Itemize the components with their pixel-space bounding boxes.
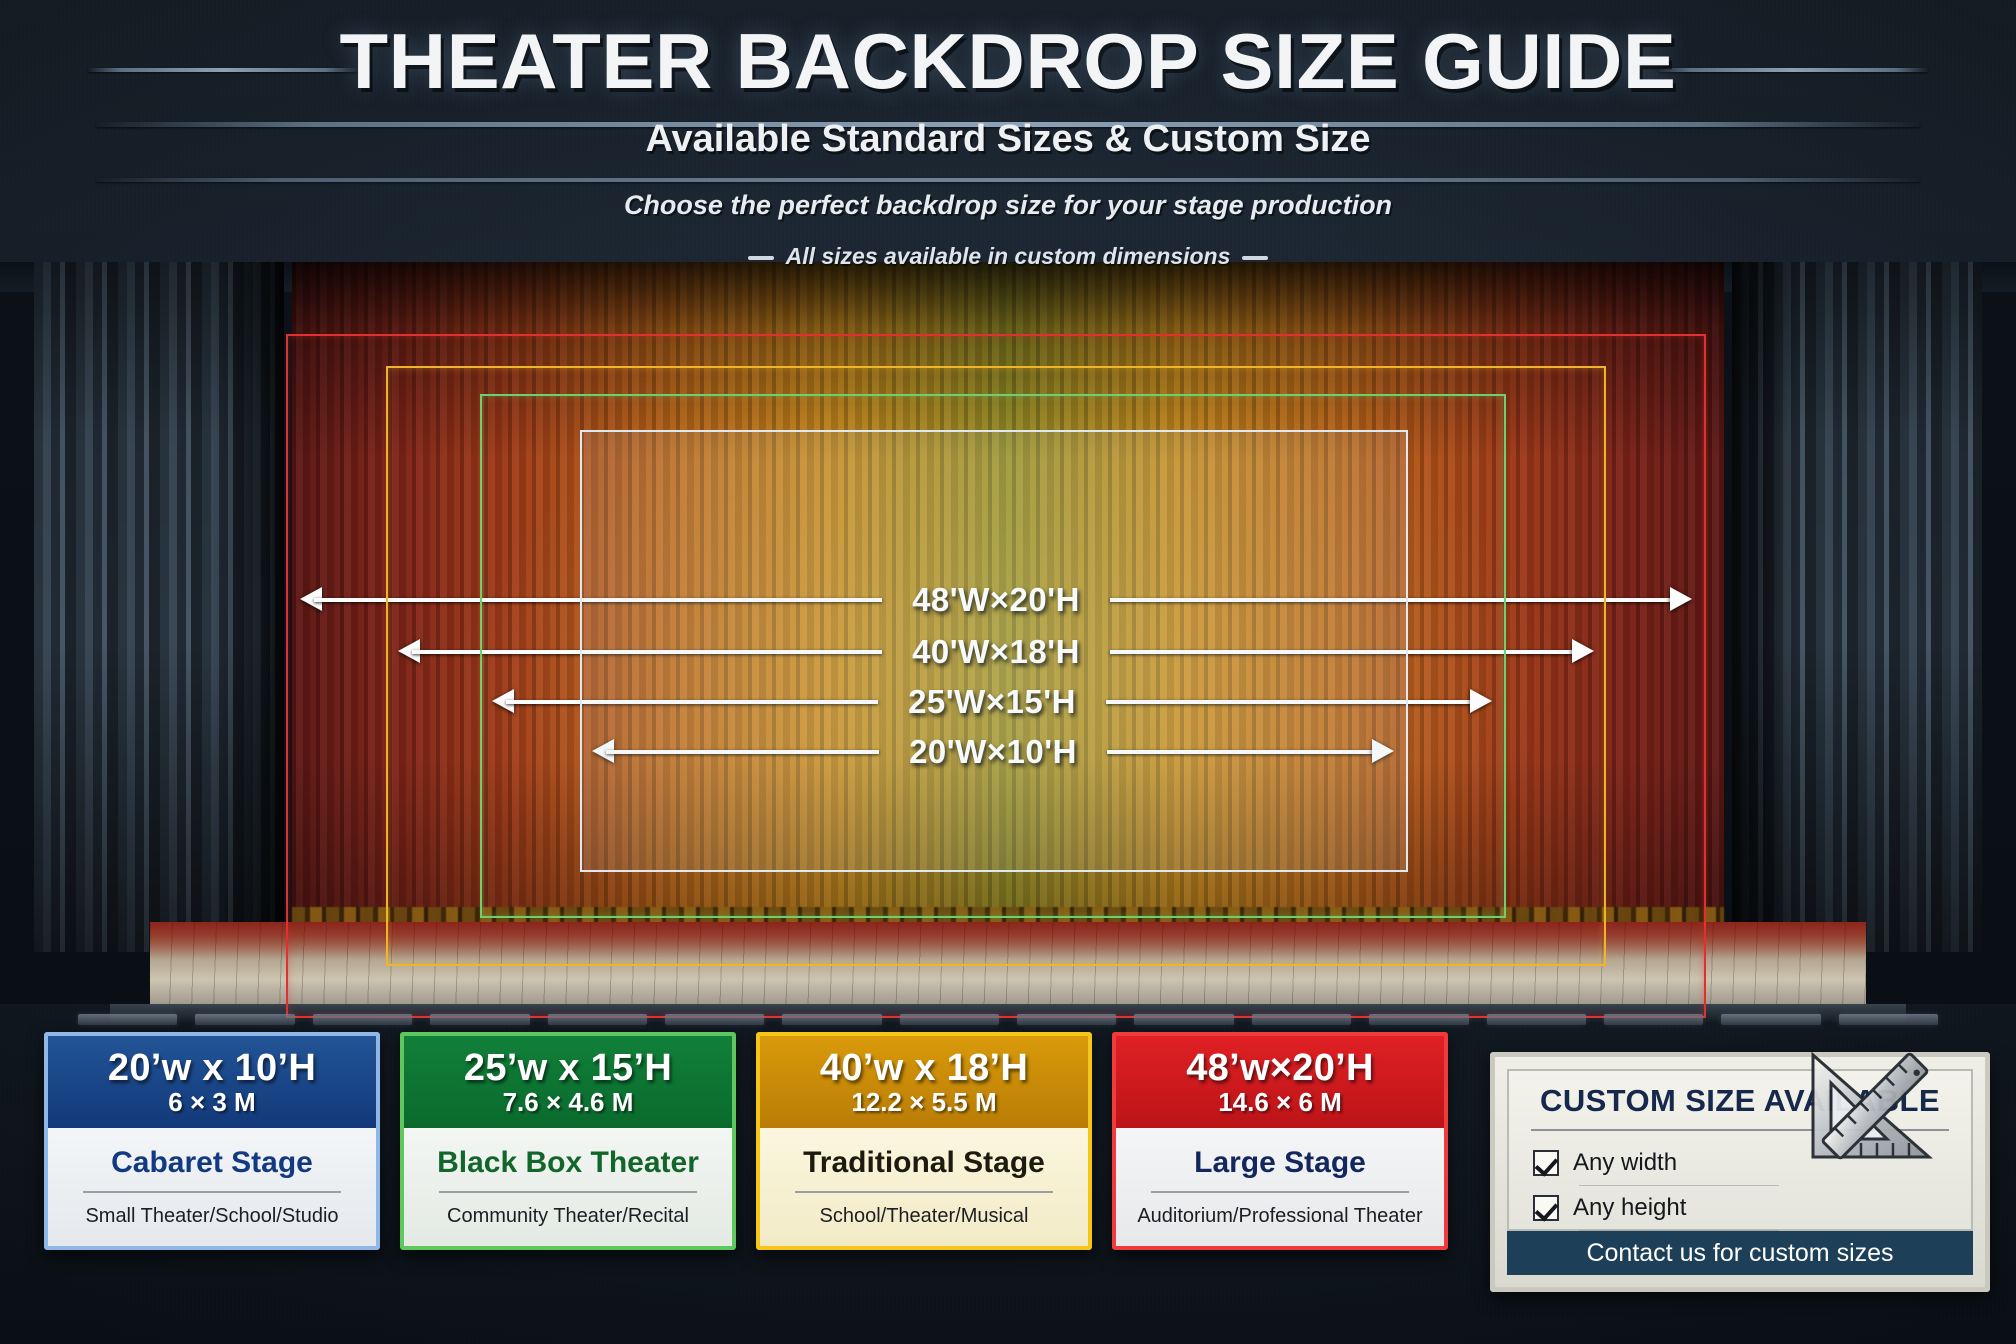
light-fixture xyxy=(548,1014,647,1025)
light-fixture xyxy=(195,1014,294,1025)
page-title: THEATER BACKDROP SIZE GUIDE xyxy=(0,22,2016,100)
card-divider xyxy=(1151,1191,1410,1193)
stage-light-bar xyxy=(0,1005,2016,1033)
size-card-traditional-stage[interactable]: 40’w x 18’H 12.2 × 5.5 M Traditional Sta… xyxy=(756,1032,1092,1250)
light-fixture xyxy=(900,1014,999,1025)
note-text: All sizes available in custom dimensions xyxy=(786,243,1231,269)
card-size-metric: 6 × 3 M xyxy=(168,1089,255,1115)
light-fixture xyxy=(1134,1014,1233,1025)
light-fixture xyxy=(1252,1014,1351,1025)
card-name: Large Stage xyxy=(1194,1147,1366,1179)
size-card-large-stage[interactable]: 48’w×20’H 14.6 × 6 M Large Stage Auditor… xyxy=(1112,1032,1448,1250)
light-fixture xyxy=(782,1014,881,1025)
custom-size-panel[interactable]: CUSTOM SIZE AVAILABLE Any width Any heig… xyxy=(1490,1052,1990,1292)
feature-label: Any height xyxy=(1573,1194,1686,1222)
card-header: 48’w×20’H 14.6 × 6 M xyxy=(1116,1036,1444,1128)
light-fixture xyxy=(1839,1014,1938,1025)
light-fixture xyxy=(430,1014,529,1025)
card-size-metric: 7.6 × 4.6 M xyxy=(503,1089,634,1115)
card-size-imperial: 48’w×20’H xyxy=(1186,1049,1374,1087)
card-size-imperial: 20’w x 10’H xyxy=(108,1049,316,1087)
card-body: Traditional Stage School/Theater/Musical xyxy=(760,1128,1088,1250)
card-use-case: School/Theater/Musical xyxy=(820,1205,1029,1227)
header-rule-full-bottom xyxy=(96,178,1920,182)
light-fixture xyxy=(1369,1014,1468,1025)
card-header: 40’w x 18’H 12.2 × 5.5 M xyxy=(760,1036,1088,1128)
light-fixture xyxy=(1604,1014,1703,1025)
header: THEATER BACKDROP SIZE GUIDE Available St… xyxy=(0,0,2016,280)
light-fixture xyxy=(1487,1014,1586,1025)
card-header: 20’w x 10’H 6 × 3 M xyxy=(48,1036,376,1128)
light-fixture xyxy=(1017,1014,1116,1025)
card-use-case: Auditorium/Professional Theater xyxy=(1137,1205,1422,1227)
light-fixture xyxy=(1721,1014,1820,1025)
feature-label: Any width xyxy=(1573,1149,1677,1177)
note-dash-left xyxy=(748,256,774,260)
card-size-imperial: 25’w x 15’H xyxy=(464,1049,672,1087)
card-divider xyxy=(795,1191,1054,1193)
theater-stage-illustration: 48'W×20'H 40'W×18'H 25'W×15'H 20'W×10'H … xyxy=(0,262,2016,1002)
checkbox-checked-icon xyxy=(1533,1150,1559,1176)
size-rect-20x10 xyxy=(580,430,1408,872)
custom-size-inner-frame: CUSTOM SIZE AVAILABLE Any width Any heig… xyxy=(1507,1069,1973,1231)
card-name: Traditional Stage xyxy=(803,1147,1045,1179)
light-fixture xyxy=(78,1014,177,1025)
card-size-metric: 14.6 × 6 M xyxy=(1218,1089,1342,1115)
card-body: Large Stage Auditorium/Professional Thea… xyxy=(1116,1128,1444,1250)
size-card-black-box-theater[interactable]: 25’w x 15’H 7.6 × 4.6 M Black Box Theate… xyxy=(400,1032,736,1250)
card-divider xyxy=(83,1191,342,1193)
custom-size-footer[interactable]: Contact us for custom sizes xyxy=(1507,1231,1973,1275)
ruler-triangle-icon xyxy=(1805,1047,1945,1165)
custom-size-feature-any-height: Any height xyxy=(1533,1186,1947,1230)
note-dash-right xyxy=(1242,256,1268,260)
light-fixture xyxy=(313,1014,412,1025)
card-divider xyxy=(439,1191,698,1193)
card-body: Cabaret Stage Small Theater/School/Studi… xyxy=(48,1128,376,1250)
light-fixture xyxy=(665,1014,764,1025)
size-rectangles xyxy=(0,262,2016,1004)
card-name: Black Box Theater xyxy=(437,1147,699,1179)
page-subtitle: Available Standard Sizes & Custom Size xyxy=(0,120,2016,158)
checkbox-checked-icon xyxy=(1533,1195,1559,1221)
card-size-metric: 12.2 × 5.5 M xyxy=(851,1089,996,1115)
card-use-case: Small Theater/School/Studio xyxy=(85,1205,338,1227)
card-use-case: Community Theater/Recital xyxy=(447,1205,689,1227)
page-note: All sizes available in custom dimensions xyxy=(0,243,2016,270)
card-body: Black Box Theater Community Theater/Reci… xyxy=(404,1128,732,1250)
page-tagline: Choose the perfect backdrop size for you… xyxy=(0,190,2016,221)
card-name: Cabaret Stage xyxy=(111,1147,313,1179)
card-size-imperial: 40’w x 18’H xyxy=(820,1049,1028,1087)
size-card-cabaret-stage[interactable]: 20’w x 10’H 6 × 3 M Cabaret Stage Small … xyxy=(44,1032,380,1250)
card-header: 25’w x 15’H 7.6 × 4.6 M xyxy=(404,1036,732,1128)
